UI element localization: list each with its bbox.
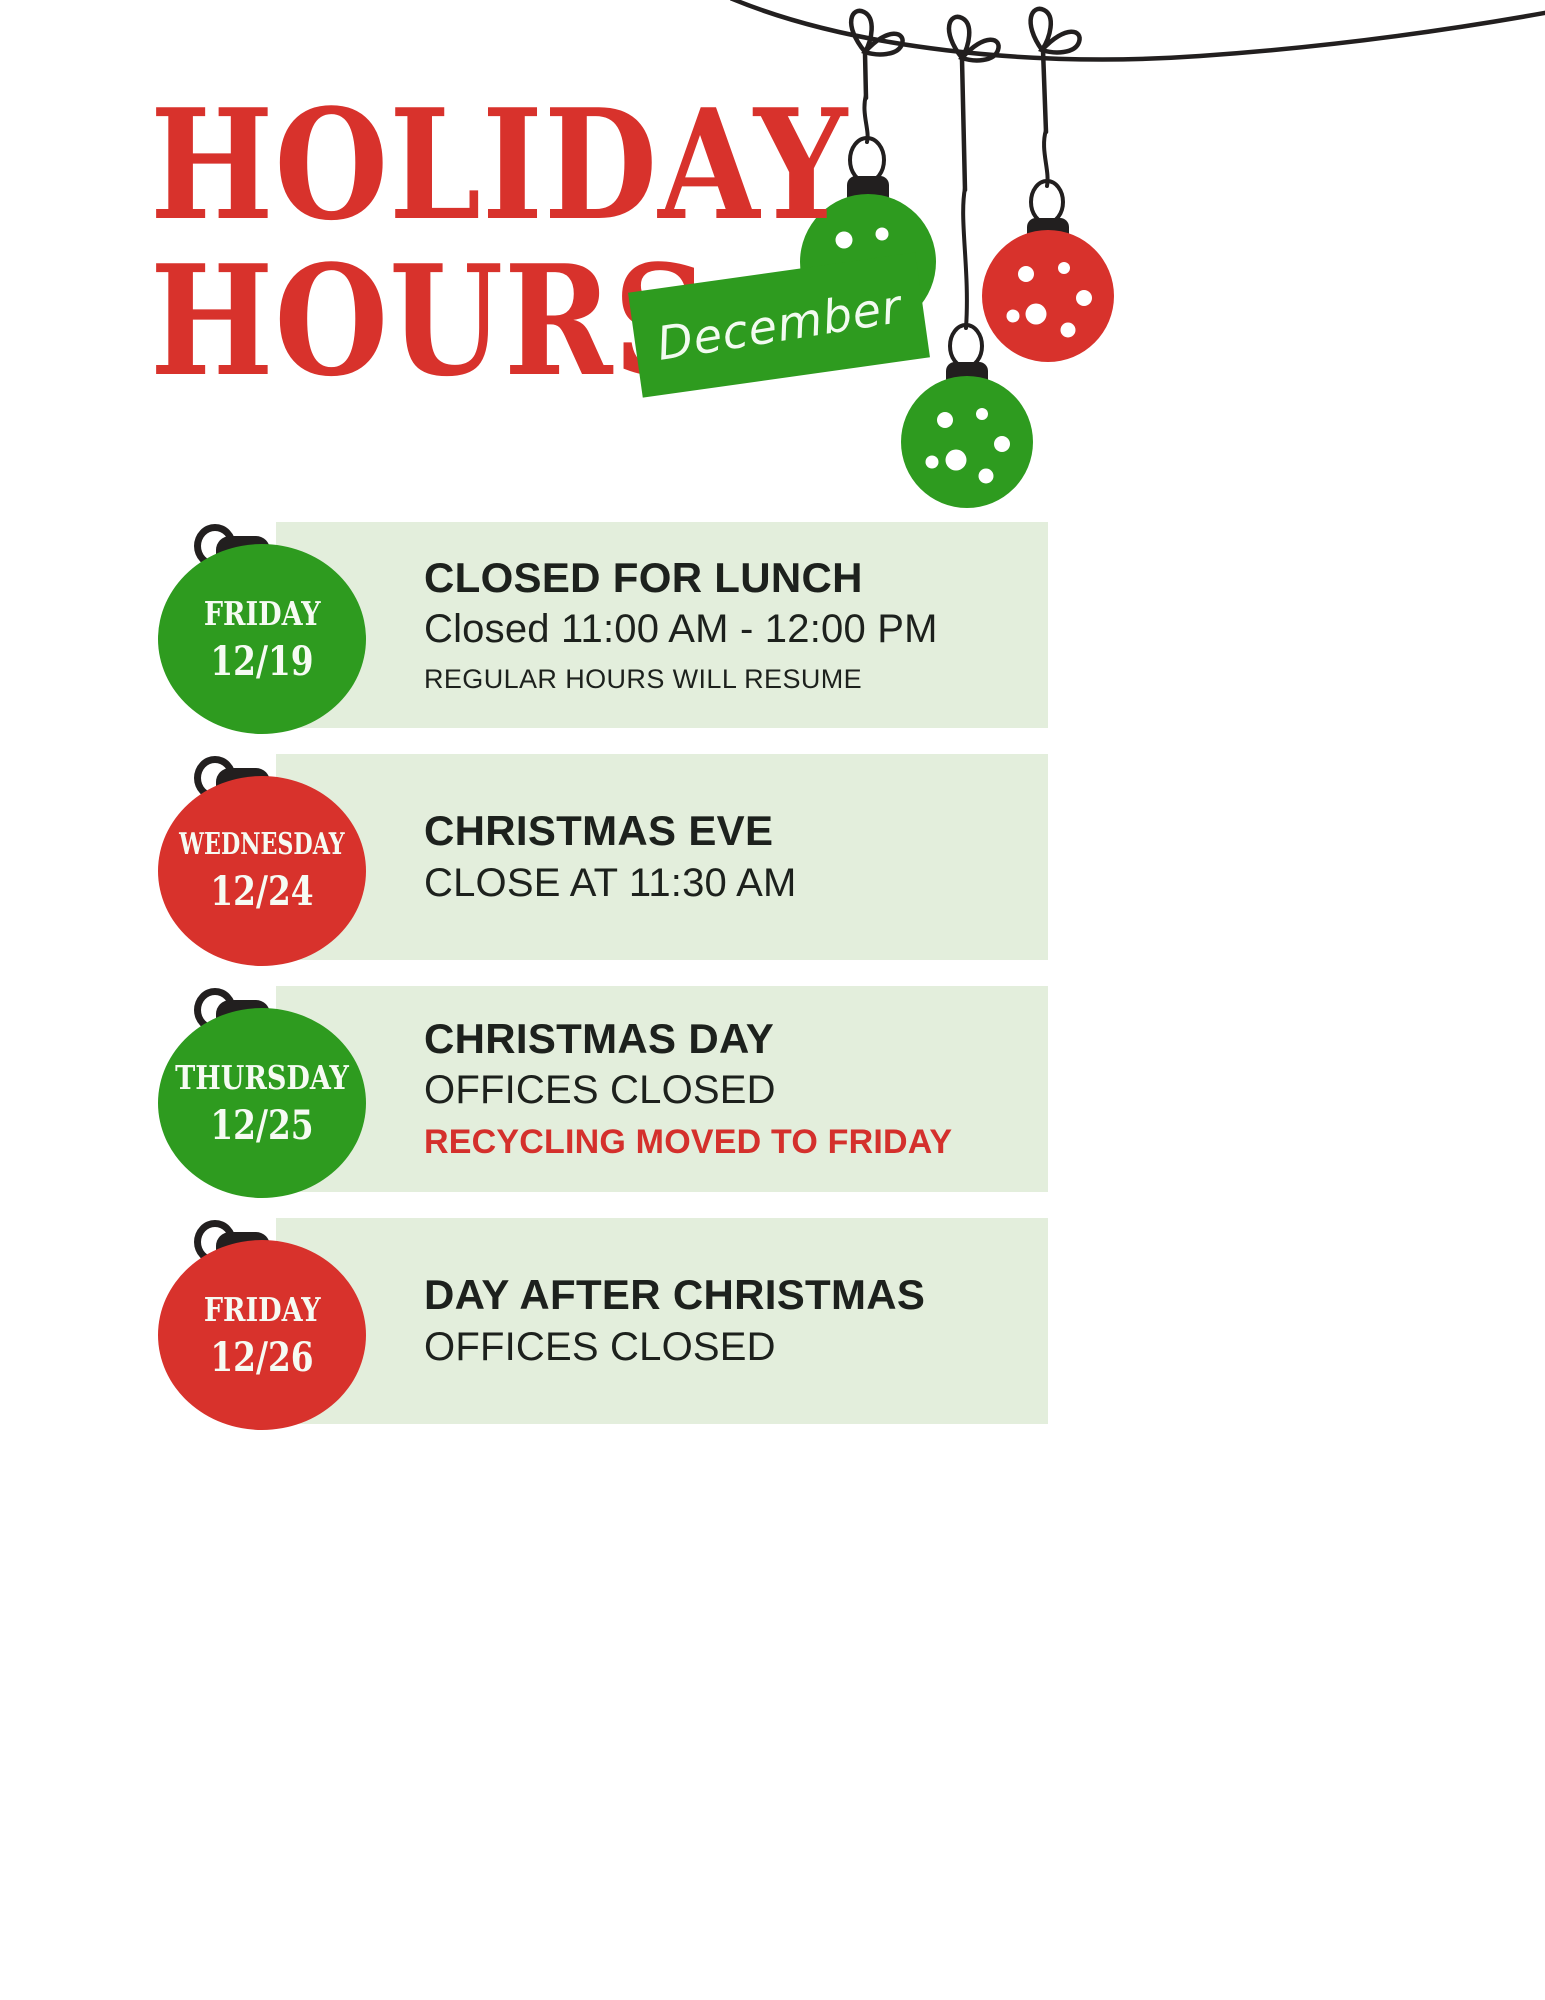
row-text-block: CLOSED FOR LUNCH Closed 11:00 AM - 12:00…	[424, 522, 1044, 728]
row-headline: CLOSED FOR LUNCH	[424, 554, 1044, 601]
row-text-block: CHRISTMAS DAY OFFICES CLOSED RECYCLING M…	[424, 986, 1044, 1192]
poster-title: HOLIDAY HOURS	[150, 95, 1100, 391]
row-subline: CLOSE AT 11:30 AM	[424, 859, 1044, 907]
row-note: REGULAR HOURS WILL RESUME	[424, 663, 1044, 695]
badge-date-label: 12/26	[210, 1338, 313, 1378]
row-headline: CHRISTMAS DAY	[424, 1015, 1044, 1062]
badge-date-label: 12/19	[210, 642, 313, 682]
ornament-ball: THURSDAY 12/25	[158, 1008, 366, 1198]
holiday-hours-poster: HOLIDAY HOURS December FRIDAY 12/19 CLOS…	[0, 0, 1545, 2000]
holiday-row: FRIDAY 12/19 CLOSED FOR LUNCH Closed 11:…	[0, 522, 1545, 728]
badge-day-label: FRIDAY	[204, 597, 321, 630]
row-subline: Closed 11:00 AM - 12:00 PM	[424, 605, 1044, 653]
ornament-ball: WEDNESDAY 12/24	[158, 776, 366, 966]
row-alert: RECYCLING MOVED TO FRIDAY	[424, 1122, 1044, 1163]
row-headline: CHRISTMAS EVE	[424, 807, 1044, 854]
date-badge-ornament: WEDNESDAY 12/24	[148, 756, 368, 966]
holiday-rows-list: FRIDAY 12/19 CLOSED FOR LUNCH Closed 11:…	[0, 522, 1545, 1450]
row-text-block: DAY AFTER CHRISTMAS OFFICES CLOSED	[424, 1218, 1044, 1424]
date-badge-ornament: THURSDAY 12/25	[148, 988, 368, 1198]
holiday-row: THURSDAY 12/25 CHRISTMAS DAY OFFICES CLO…	[0, 986, 1545, 1192]
ornament-ball: FRIDAY 12/19	[158, 544, 366, 734]
badge-day-label: WEDNESDAY	[179, 830, 345, 860]
badge-date-label: 12/24	[210, 872, 313, 912]
row-subline: OFFICES CLOSED	[424, 1066, 1044, 1114]
holiday-row: WEDNESDAY 12/24 CHRISTMAS EVE CLOSE AT 1…	[0, 754, 1545, 960]
date-badge-ornament: FRIDAY 12/26	[148, 1220, 368, 1430]
month-tag-label: December	[653, 279, 905, 371]
badge-date-label: 12/25	[210, 1106, 313, 1146]
ornament-ball: FRIDAY 12/26	[158, 1240, 366, 1430]
badge-day-label: FRIDAY	[204, 1293, 321, 1326]
title-line-holiday: HOLIDAY	[150, 95, 967, 235]
date-badge-ornament: FRIDAY 12/19	[148, 524, 368, 734]
badge-day-label: THURSDAY	[175, 1061, 349, 1094]
row-headline: DAY AFTER CHRISTMAS	[424, 1271, 1044, 1318]
holiday-row: FRIDAY 12/26 DAY AFTER CHRISTMAS OFFICES…	[0, 1218, 1545, 1424]
row-subline: OFFICES CLOSED	[424, 1323, 1044, 1371]
row-text-block: CHRISTMAS EVE CLOSE AT 11:30 AM	[424, 754, 1044, 960]
